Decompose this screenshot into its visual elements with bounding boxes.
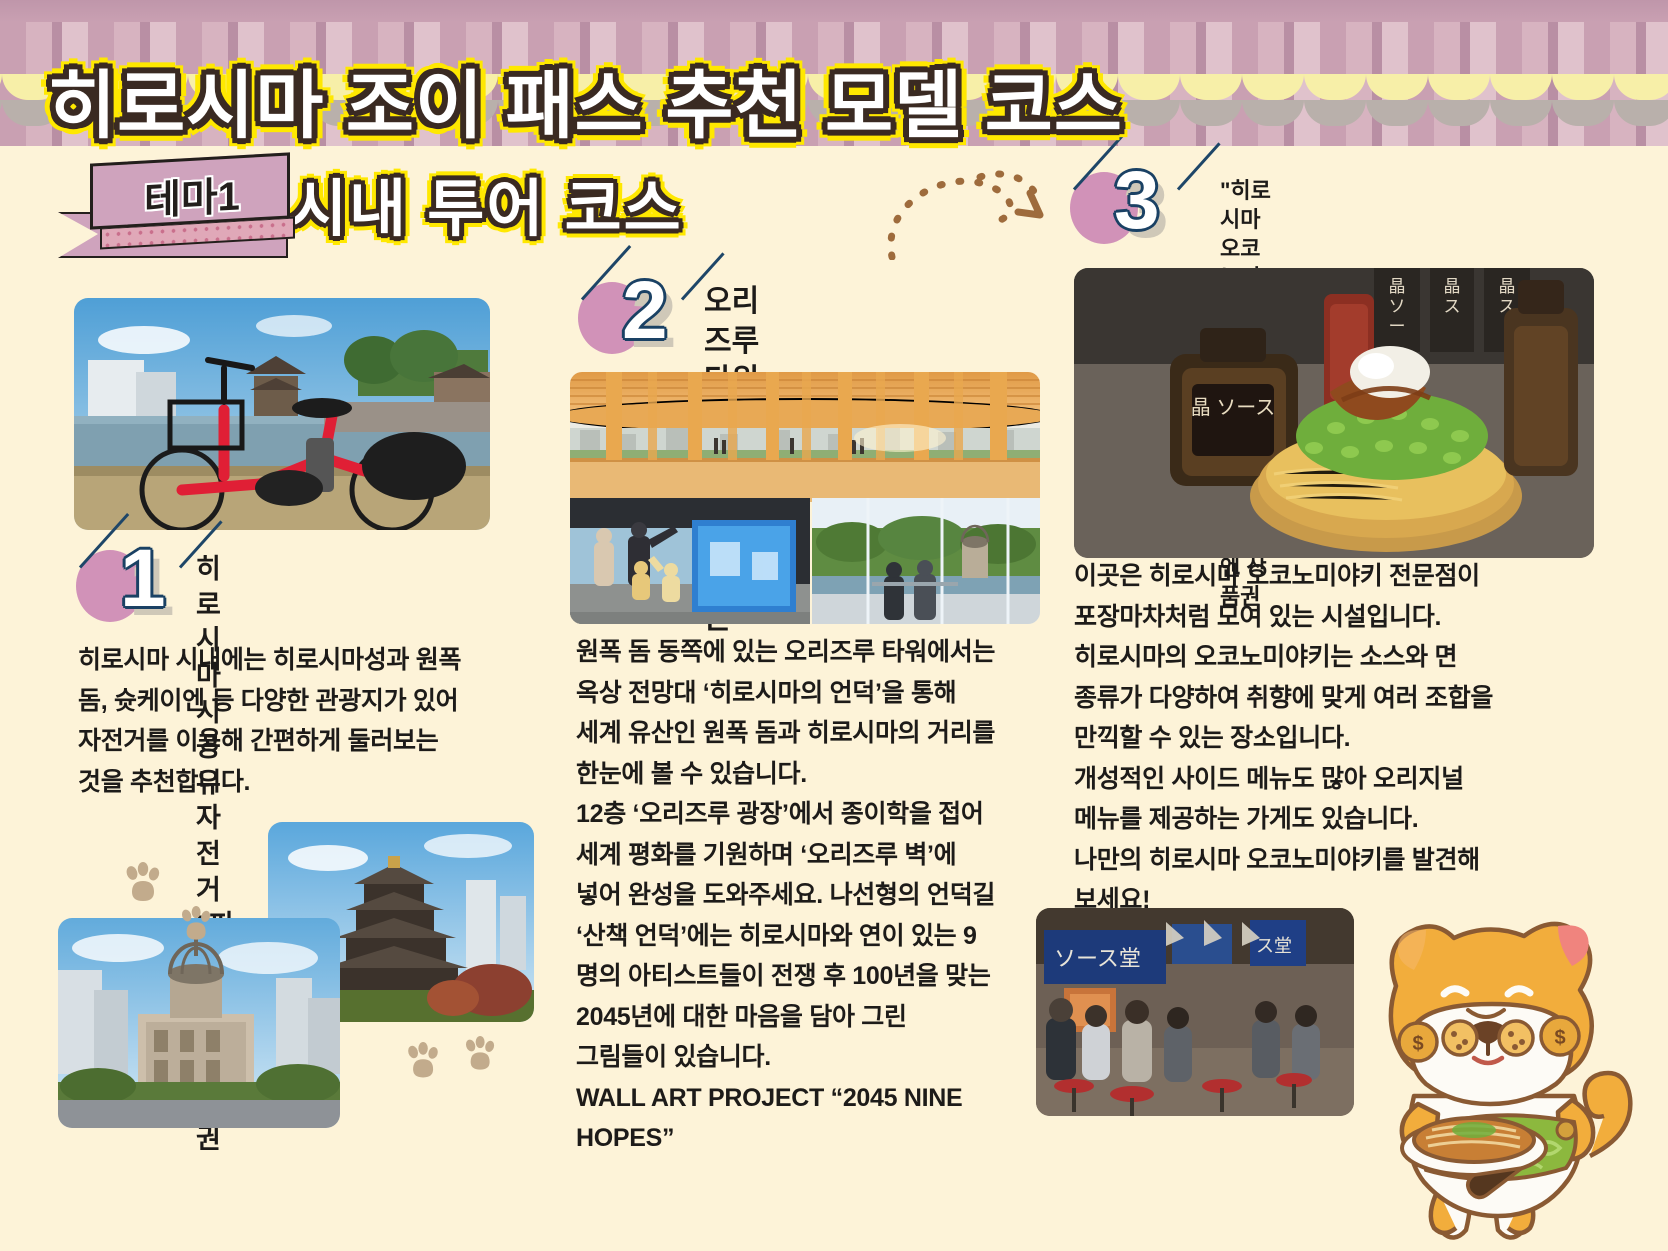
badge-number-2: 2	[622, 270, 668, 352]
svg-text:晶: 晶	[1444, 277, 1461, 296]
page-subtitle: 시내 투어 코스	[290, 158, 683, 248]
photo-window-view-dome	[812, 498, 1040, 624]
paw-print-icon	[404, 1042, 444, 1082]
theme-ribbon: 테마1	[58, 152, 298, 260]
photo-orizuru-tower-deck	[570, 372, 1040, 502]
svg-text:晶 ソース: 晶 ソース	[1191, 397, 1276, 419]
svg-text:晶: 晶	[1499, 277, 1516, 296]
page-title: 히로시마 조이 패스 추천 모델 코스	[48, 46, 1123, 153]
svg-text:ス堂: ス堂	[1256, 936, 1292, 956]
svg-text:$: $	[1554, 1027, 1565, 1049]
svg-text:ー: ー	[1389, 317, 1406, 336]
section-badge-2: 2 오리즈루 타워 입장권 1,000엔 할인 쿠폰	[578, 280, 728, 385]
photo-rental-bicycle	[74, 298, 490, 530]
awning-top-edge	[0, 0, 1668, 22]
svg-text:晶: 晶	[1389, 277, 1406, 296]
svg-text:ソース堂: ソース堂	[1054, 946, 1141, 971]
paw-print-icon	[122, 862, 166, 906]
svg-text:ソ: ソ	[1389, 297, 1406, 316]
section-badge-3: 3 "히로시마 오코노미야키 모노가타리 에키마에히로바" 1,500엔 상품권	[1070, 170, 1220, 275]
section-body-2: 원폭 돔 동쪽에 있는 오리즈루 타워에서는 옥상 전망대 ‘히로시마의 언덕’…	[576, 632, 1046, 1159]
badge-number-3: 3	[1114, 160, 1160, 242]
badge-slash-right-3	[1177, 142, 1221, 190]
svg-text:$: $	[1412, 1033, 1423, 1055]
section-badge-1: 1 히로시마시 공유 자전거 "피스쿠루" 1일권	[76, 548, 226, 653]
photo-okonomiyaki-plate: 晶ソー 晶ス 晶ス 晶 ソース	[1074, 268, 1594, 558]
photo-orizuru-square-display	[570, 498, 810, 624]
section-body-1: 히로시마 시내에는 히로시마성과 원폭 돔, 슛케이엔 등 다양한 관광지가 있…	[78, 640, 518, 802]
svg-text:ス: ス	[1444, 297, 1461, 316]
paw-print-icon	[462, 1036, 500, 1074]
dashed-curved-arrow-icon	[880, 165, 1060, 260]
shiba-inu-mascot: $$	[1322, 890, 1652, 1250]
theme-badge-label: 테마1	[104, 161, 280, 229]
section-body-3: 이곳은 히로시마 오코노미야키 전문점이 포장마차처럼 모여 있는 시설입니다.…	[1074, 556, 1604, 921]
badge-number-1: 1	[120, 538, 166, 620]
photo-okonomiyaki-food-hall: ソース堂 ス堂	[1036, 908, 1354, 1116]
photo-atomic-bomb-dome	[58, 918, 340, 1128]
paw-print-icon	[178, 906, 216, 944]
